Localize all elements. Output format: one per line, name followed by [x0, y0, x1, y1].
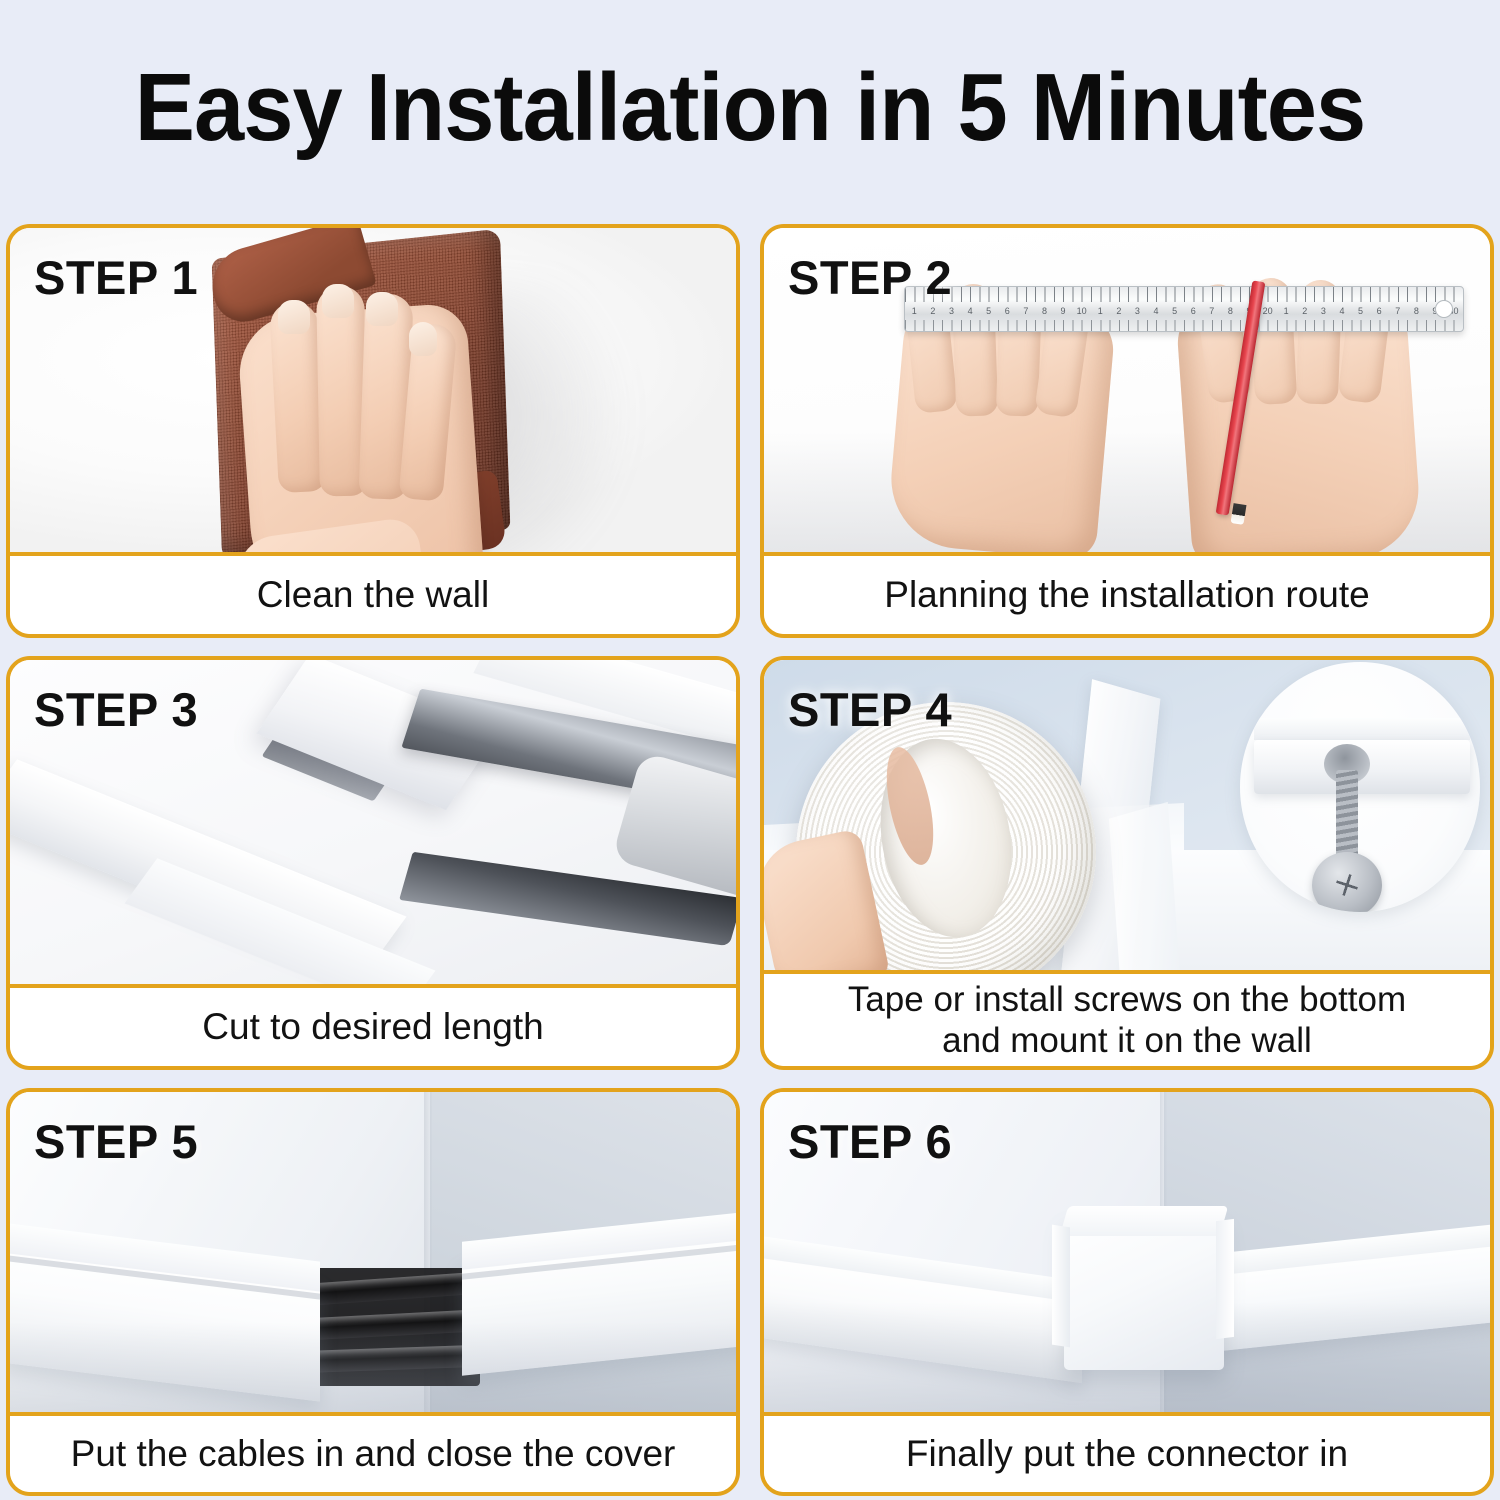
step-label-6: STEP 6 — [788, 1114, 952, 1169]
corner-connector — [1064, 1220, 1224, 1370]
step-card-4: STEP 4 Tape or install screws on the bot… — [760, 656, 1494, 1070]
step-5-image: STEP 5 — [10, 1092, 736, 1412]
step-card-1: STEP 1 Clean the wall — [6, 224, 740, 638]
ruler-numbers: 123456789101234567892012345678930 — [905, 302, 1463, 320]
step-4-image: STEP 4 — [764, 660, 1490, 970]
step-card-3: STEP 3 Cut to desired length — [6, 656, 740, 1070]
step-2-image: 123456789101234567892012345678930 STEP 2 — [764, 228, 1490, 552]
ruler-ticks-top — [905, 287, 1463, 302]
step-caption-2: Planning the installation route — [764, 552, 1490, 634]
step-caption-6: Finally put the connector in — [764, 1412, 1490, 1492]
floor-shadow — [10, 1322, 736, 1412]
step-label-1: STEP 1 — [34, 250, 198, 305]
step-label-2: STEP 2 — [788, 250, 952, 305]
connector-tab-left — [1052, 1225, 1070, 1348]
screw-shaft — [1336, 770, 1358, 862]
step-6-image: STEP 6 — [764, 1092, 1490, 1412]
step-card-5: STEP 5 Put the cables in and close the c… — [6, 1088, 740, 1496]
steps-grid: STEP 1 Clean the wall 123456789101234567… — [6, 224, 1494, 1496]
steel-ruler: 123456789101234567892012345678930 — [904, 286, 1464, 332]
step-label-5: STEP 5 — [34, 1114, 198, 1169]
fingernail — [278, 300, 310, 334]
screw-detail-inset — [1240, 662, 1480, 912]
fingernail — [409, 322, 437, 356]
step-label-4: STEP 4 — [788, 682, 952, 737]
step-card-6: STEP 6 Finally put the connector in — [760, 1088, 1494, 1496]
step-caption-4-line-1: Tape or install screws on the bottom — [848, 980, 1406, 1019]
connector-tab-right — [1216, 1219, 1234, 1339]
step-1-image: STEP 1 — [10, 228, 736, 552]
step-caption-1: Clean the wall — [10, 552, 736, 634]
step-caption-3: Cut to desired length — [10, 984, 736, 1066]
step-3-image: STEP 3 — [10, 660, 736, 984]
step-card-2: 123456789101234567892012345678930 STEP 2… — [760, 224, 1494, 638]
page-title: Easy Installation in 5 Minutes — [45, 58, 1455, 159]
step-caption-4-line-2: and mount it on the wall — [942, 1021, 1312, 1060]
ruler-hanging-hole — [1435, 300, 1453, 318]
raceway-lid — [1254, 718, 1470, 740]
corner-connector-top — [1060, 1206, 1229, 1236]
ruler-ticks-bottom — [905, 320, 1463, 331]
step-caption-5: Put the cables in and close the cover — [10, 1412, 736, 1492]
step-caption-4: Tape or install screws on the bottom and… — [764, 970, 1490, 1066]
step-label-3: STEP 3 — [34, 682, 198, 737]
fingernail — [366, 292, 398, 326]
fingernail — [322, 284, 354, 318]
